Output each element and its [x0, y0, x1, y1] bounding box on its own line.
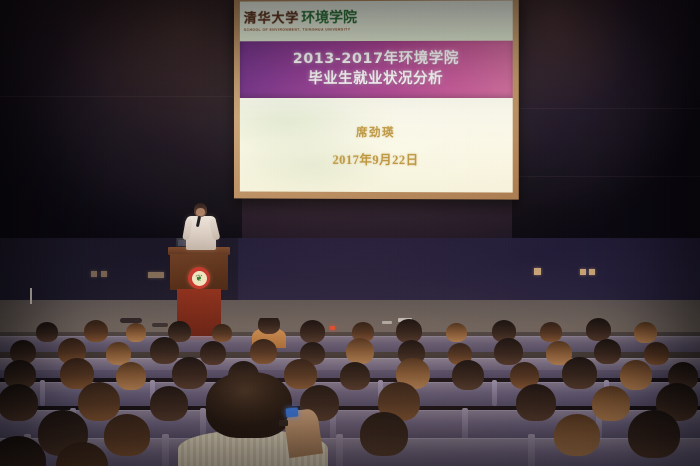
seat-divider	[492, 380, 497, 406]
audience-head	[644, 342, 669, 365]
logo-school-name: 环境学院	[301, 12, 357, 26]
audience-head	[258, 318, 280, 334]
wall-socket-left-b	[101, 271, 107, 277]
podium-emblem-icon: ❦	[188, 267, 210, 289]
audience-head	[36, 322, 58, 342]
lecture-hall-scene: 清华大学 环境学院 SCHOOL OF ENVIRONMENT, TSINGHU…	[0, 0, 700, 466]
seat-divider	[528, 434, 535, 466]
presentation-slide: 清华大学 环境学院 SCHOOL OF ENVIRONMENT, TSINGHU…	[240, 0, 513, 192]
audience-head	[452, 360, 484, 390]
slide-title-line-1: 2013-2017年环境学院	[293, 50, 459, 69]
speaker-face	[196, 208, 205, 216]
university-logo: 清华大学 环境学院 SCHOOL OF ENVIRONMENT, TSINGHU…	[244, 11, 357, 32]
logo-english-subtitle: SCHOOL OF ENVIRONMENT, TSINGHUA UNIVERSI…	[244, 28, 357, 32]
audience-head	[84, 320, 108, 342]
audience-head	[0, 384, 38, 421]
foreground-person-phone	[286, 407, 299, 417]
speaker-presenter	[184, 203, 218, 255]
audience-head	[78, 382, 120, 421]
audience-head	[150, 337, 179, 364]
audience-head	[628, 410, 680, 458]
seat-divider	[162, 434, 169, 466]
projection-screen-frame: 清华大学 环境学院 SCHOOL OF ENVIRONMENT, TSINGHU…	[234, 0, 519, 200]
audience-head	[116, 362, 146, 390]
audience-head	[620, 360, 652, 390]
audience-head	[200, 341, 226, 365]
audience-head	[250, 339, 277, 364]
audience-head	[562, 357, 597, 389]
seat-divider	[462, 408, 468, 440]
wall-socket-left-a	[91, 271, 97, 277]
seat-divider	[40, 380, 45, 406]
slide-body: 席劲瑛 2017年9月22日	[240, 98, 513, 193]
slide-author-date: 2017年9月22日	[240, 149, 513, 169]
audience-head	[346, 338, 374, 364]
microphone-stand	[30, 288, 32, 304]
foreground-person-head	[206, 372, 292, 438]
wall-panel-left	[148, 272, 164, 278]
wall-seam-right-lower	[512, 176, 700, 177]
audience-head	[340, 362, 370, 390]
foreground-person-watch	[279, 420, 288, 426]
wall-socket-right-c	[589, 269, 595, 275]
slide-author-block: 席劲瑛 2017年9月22日	[240, 124, 513, 169]
slide-title-line-2: 毕业生就业状况分析	[308, 69, 443, 88]
audience-head	[446, 323, 467, 342]
slide-author-name: 席劲瑛	[240, 124, 513, 140]
podium-emblem-leaf-icon: ❦	[192, 271, 207, 286]
wall-seam-left	[0, 96, 238, 97]
foreground-audience-member	[178, 372, 328, 466]
podium-front-panel: ❦	[170, 254, 228, 290]
slide-title-band: 2013-2017年环境学院 毕业生就业状况分析	[240, 41, 513, 98]
audience-head	[586, 318, 611, 341]
audience-head	[516, 384, 556, 421]
audience-head	[300, 320, 325, 343]
wall-socket-right-a	[534, 268, 541, 275]
wall-seam-right	[512, 108, 700, 109]
audience-head	[634, 322, 657, 343]
audience-head	[594, 339, 621, 364]
slide-header: 清华大学 环境学院 SCHOOL OF ENVIRONMENT, TSINGHU…	[240, 0, 513, 41]
audience-head	[104, 414, 150, 456]
logo-university-name: 清华大学	[244, 11, 299, 24]
audience-head	[212, 324, 232, 342]
seat-divider	[336, 434, 343, 466]
audience-head	[494, 338, 523, 365]
audience-head	[592, 386, 630, 421]
audience-area	[0, 318, 700, 466]
audience-head	[540, 322, 562, 342]
audience-head	[360, 412, 408, 456]
audience-head	[126, 323, 146, 342]
audience-head	[554, 414, 600, 456]
wall-socket-right-b	[580, 269, 586, 275]
